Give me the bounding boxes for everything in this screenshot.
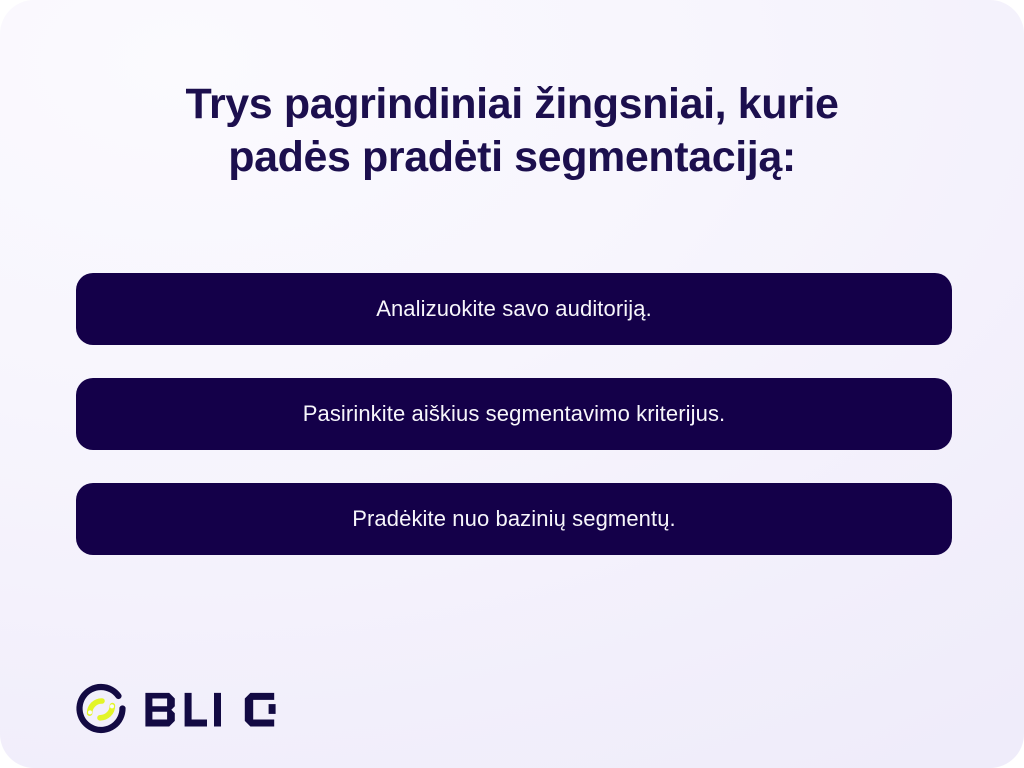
blic-wordmark bbox=[144, 689, 284, 729]
step-card-1-label: Analizuokite savo auditoriją. bbox=[376, 295, 652, 323]
step-card-3[interactable]: Pradėkite nuo bazinių segmentų. bbox=[76, 483, 952, 555]
step-card-1[interactable]: Analizuokite savo auditoriją. bbox=[76, 273, 952, 345]
page-title-line-1: Trys pagrindiniai žingsniai, kurie bbox=[60, 78, 964, 131]
brand-logo bbox=[74, 682, 284, 736]
step-card-2-label: Pasirinkite aiškius segmentavimo kriteri… bbox=[303, 400, 726, 428]
steps-list: Analizuokite savo auditoriją. Pasirinkit… bbox=[76, 273, 952, 555]
step-card-3-label: Pradėkite nuo bazinių segmentų. bbox=[352, 505, 676, 533]
page-title-line-2: padės pradėti segmentaciją: bbox=[60, 131, 964, 184]
page-title: Trys pagrindiniai žingsniai, kurie padės… bbox=[0, 78, 1024, 184]
step-card-2[interactable]: Pasirinkite aiškius segmentavimo kriteri… bbox=[76, 378, 952, 450]
slide-canvas: Trys pagrindiniai žingsniai, kurie padės… bbox=[0, 0, 1024, 768]
blic-circle-mark-icon bbox=[74, 682, 128, 736]
